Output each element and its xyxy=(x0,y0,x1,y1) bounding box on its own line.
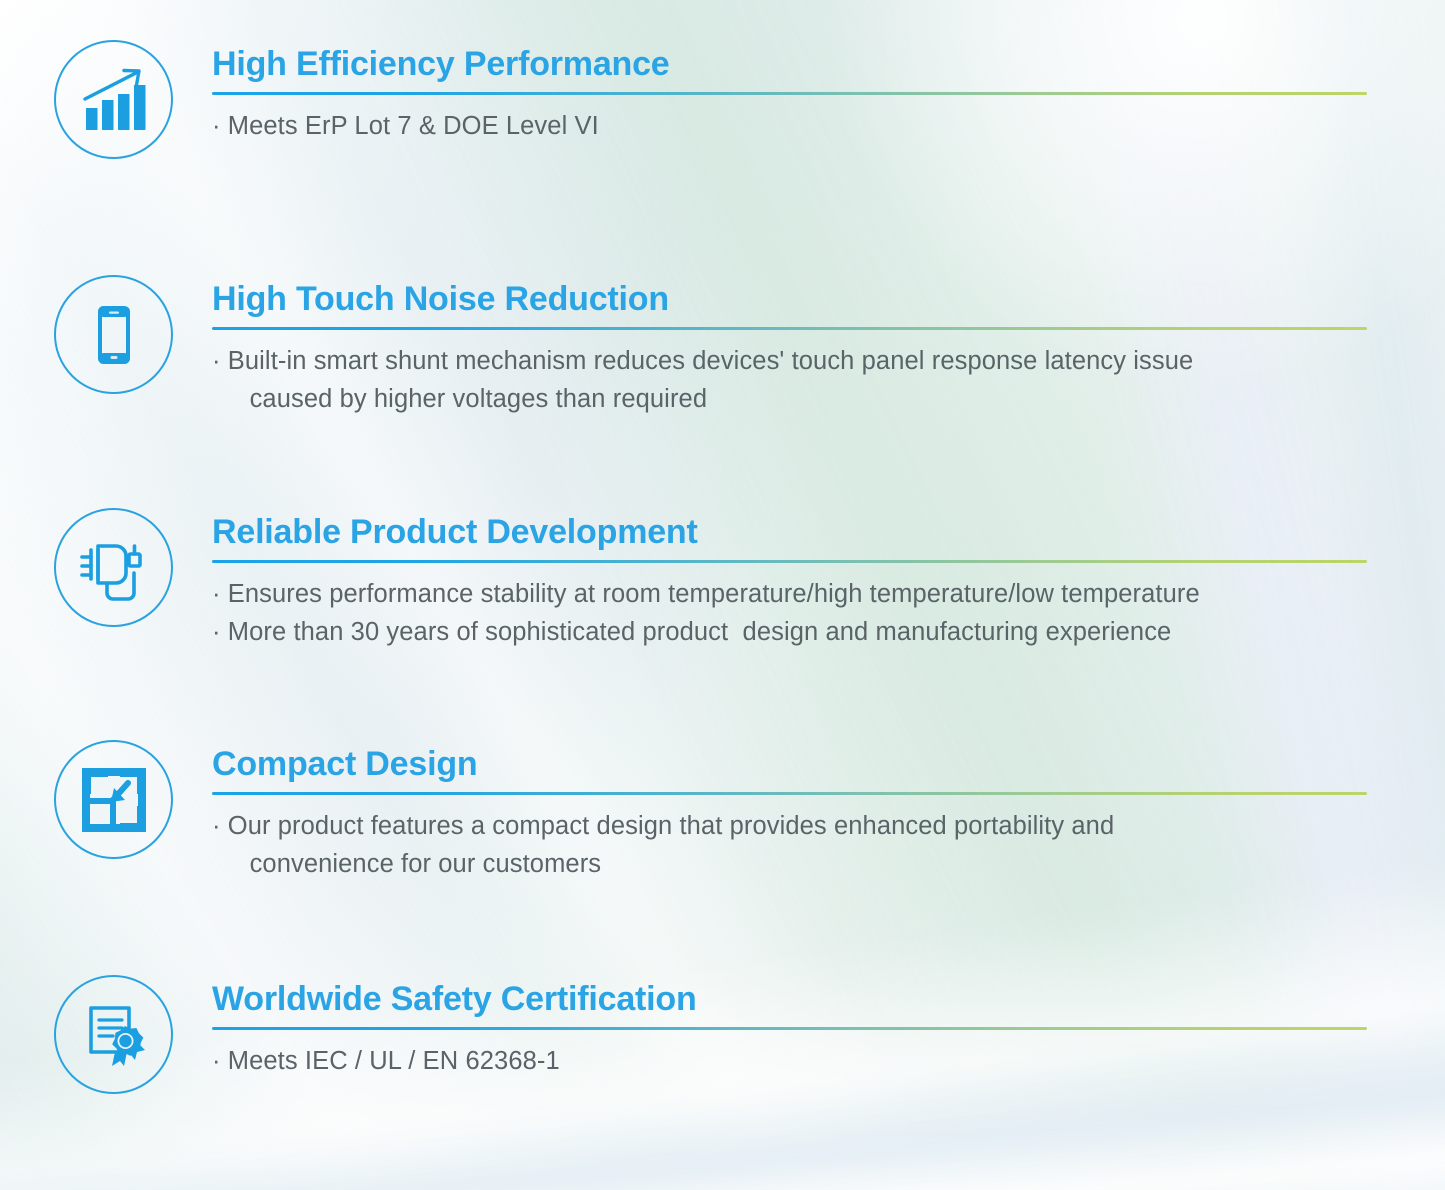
feature-divider xyxy=(212,1027,1367,1030)
feature-body: High Efficiency Performance · Meets ErP … xyxy=(212,40,1445,145)
feature-item-high-efficiency-performance: High Efficiency Performance · Meets ErP … xyxy=(0,40,1445,165)
feature-list-page: High Efficiency Performance · Meets ErP … xyxy=(0,0,1445,1190)
certificate-award-icon xyxy=(79,1000,149,1070)
feature-body: Reliable Product Development · Ensures p… xyxy=(212,508,1445,651)
feature-item-high-touch-noise-reduction: High Touch Noise Reduction · Built-in sm… xyxy=(0,275,1445,418)
compact-resize-icon xyxy=(81,767,147,833)
feature-divider xyxy=(212,560,1367,563)
feature-bullet: · Ensures performance stability at room … xyxy=(212,575,1445,613)
power-adapter-icon xyxy=(76,530,152,606)
feature-bullet: · More than 30 years of sophisticated pr… xyxy=(212,613,1445,651)
icon-circle-border xyxy=(54,508,173,627)
feature-icon-wrapper xyxy=(54,508,179,633)
feature-icon-wrapper xyxy=(54,275,179,400)
feature-item-reliable-product-development: Reliable Product Development · Ensures p… xyxy=(0,508,1445,651)
feature-title: Worldwide Safety Certification xyxy=(212,979,1445,1019)
feature-bullet-list: · Meets IEC / UL / EN 62368-1 xyxy=(212,1042,1445,1080)
icon-circle-border xyxy=(54,275,173,394)
feature-title: High Efficiency Performance xyxy=(212,44,1445,84)
feature-title: Compact Design xyxy=(212,744,1445,784)
icon-circle-border xyxy=(54,40,173,159)
feature-divider xyxy=(212,792,1367,795)
feature-title: Reliable Product Development xyxy=(212,512,1445,552)
icon-circle-border xyxy=(54,975,173,1094)
feature-bullet-list: · Meets ErP Lot 7 & DOE Level VI xyxy=(212,107,1445,145)
feature-bullet-list: · Ensures performance stability at room … xyxy=(212,575,1445,651)
bar-chart-growth-icon xyxy=(77,63,151,137)
feature-icon-wrapper xyxy=(54,975,179,1100)
feature-divider xyxy=(212,327,1367,330)
feature-icon-wrapper xyxy=(54,40,179,165)
feature-body: High Touch Noise Reduction · Built-in sm… xyxy=(212,275,1445,418)
feature-bullet: · Meets IEC / UL / EN 62368-1 xyxy=(212,1042,1445,1080)
feature-title: High Touch Noise Reduction xyxy=(212,279,1445,319)
smartphone-icon xyxy=(79,300,149,370)
feature-divider xyxy=(212,92,1367,95)
feature-bullet: · Our product features a compact design … xyxy=(212,807,1445,883)
feature-bullet-list: · Our product features a compact design … xyxy=(212,807,1445,883)
feature-body: Compact Design · Our product features a … xyxy=(212,740,1445,883)
feature-bullet-list: · Built-in smart shunt mechanism reduces… xyxy=(212,342,1445,418)
feature-item-compact-design: Compact Design · Our product features a … xyxy=(0,740,1445,883)
feature-icon-wrapper xyxy=(54,740,179,865)
feature-item-worldwide-safety-certification: Worldwide Safety Certification · Meets I… xyxy=(0,975,1445,1100)
feature-bullet: · Meets ErP Lot 7 & DOE Level VI xyxy=(212,107,1445,145)
feature-body: Worldwide Safety Certification · Meets I… xyxy=(212,975,1445,1080)
icon-circle-border xyxy=(54,740,173,859)
feature-bullet: · Built-in smart shunt mechanism reduces… xyxy=(212,342,1445,418)
